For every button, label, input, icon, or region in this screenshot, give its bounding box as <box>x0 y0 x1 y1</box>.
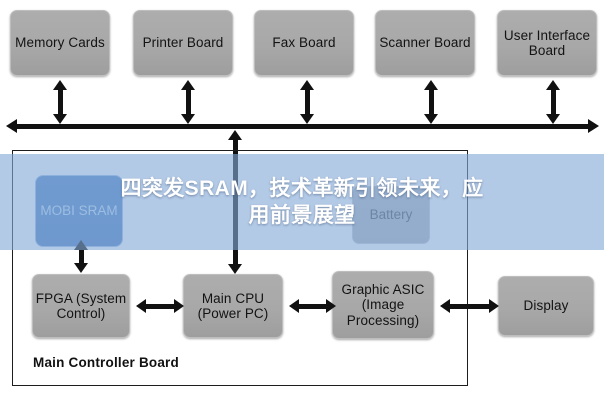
overlay-banner: 四突发SRAM，技术革新引领未来，应 用前景展望 <box>0 154 604 250</box>
arrow-cpu-asic-right-head <box>326 299 336 313</box>
block-fax-board-label: Fax Board <box>270 35 337 51</box>
block-scanner-board-label: Scanner Board <box>377 35 472 51</box>
arrow-cpu-asic-shaft <box>298 304 326 309</box>
block-user-interface-board: User Interface Board <box>497 10 597 76</box>
arrow-asic-display-right-head <box>489 299 499 313</box>
arrow-sram-to-fpga-down-head <box>74 263 88 273</box>
arrow-printer-board-shaft <box>186 89 191 115</box>
main-controller-board-label: Main Controller Board <box>33 355 179 370</box>
arrow-user-interface-board-down-head <box>546 114 560 124</box>
block-display-label: Display <box>522 298 571 314</box>
block-graphic-asic: Graphic ASIC (Image Processing) <box>332 271 434 339</box>
block-printer-board: Printer Board <box>133 10 233 76</box>
arrow-fax-board-down-head <box>300 114 314 124</box>
arrow-user-interface-board-shaft <box>551 89 556 115</box>
block-main-cpu-label: Main CPU (Power PC) <box>184 291 282 322</box>
block-main-cpu: Main CPU (Power PC) <box>183 274 283 338</box>
arrow-memory-cards-shaft <box>58 89 63 115</box>
arrow-fpga-cpu-right-head <box>174 299 184 313</box>
arrow-fpga-cpu-shaft <box>145 304 174 309</box>
block-fpga: FPGA (System Control) <box>32 274 130 338</box>
overlay-line-2: 用前景展望 <box>249 204 356 227</box>
arrow-printer-board-down-head <box>181 114 195 124</box>
arrow-asic-display-shaft <box>449 304 489 309</box>
block-memory-cards: Memory Cards <box>10 10 110 76</box>
arrow-scanner-board-shaft <box>429 89 434 115</box>
arrow-scanner-board-down-head <box>424 114 438 124</box>
block-display: Display <box>498 276 594 336</box>
system-bus-line <box>16 124 588 129</box>
block-fpga-label: FPGA (System Control) <box>33 291 129 322</box>
arrow-memory-cards-down-head <box>53 114 67 124</box>
block-graphic-asic-label: Graphic ASIC (Image Processing) <box>333 282 433 329</box>
diagram-canvas: Memory Cards Printer Board Fax Board Sca… <box>0 0 604 400</box>
block-printer-board-label: Printer Board <box>141 35 226 51</box>
block-user-interface-board-label: User Interface Board <box>498 28 596 59</box>
block-memory-cards-label: Memory Cards <box>13 35 107 51</box>
block-scanner-board: Scanner Board <box>375 10 475 76</box>
overlay-line-1: 四突发SRAM，技术革新引领未来，应 <box>120 177 483 200</box>
overlay-text: 四突发SRAM，技术革新引领未来，应 用前景展望 <box>22 175 582 229</box>
block-fax-board: Fax Board <box>254 10 354 76</box>
bus-right-arrow-head <box>588 119 599 133</box>
arrow-fax-board-shaft <box>305 89 310 115</box>
